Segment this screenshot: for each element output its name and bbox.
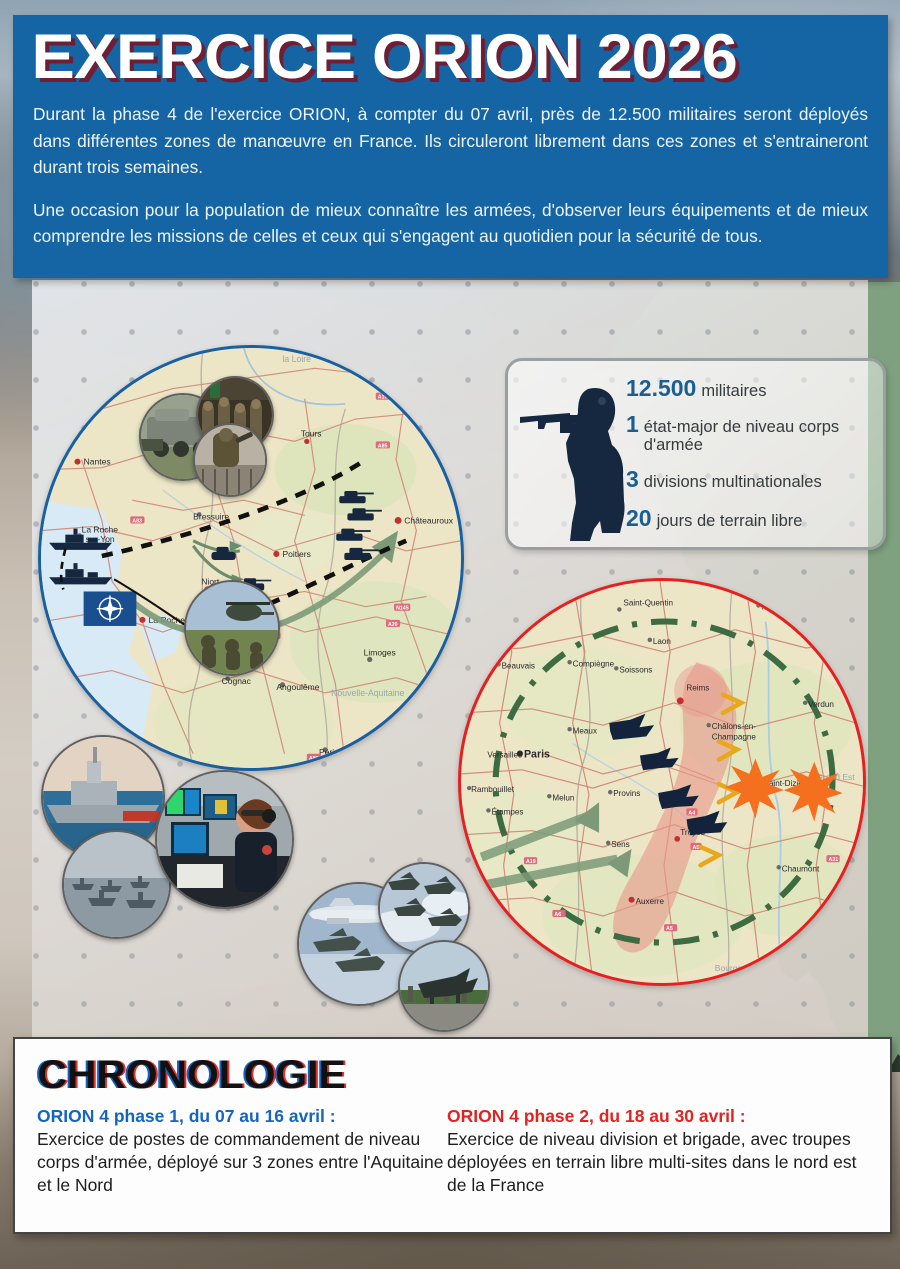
svg-text:N145: N145 [396, 606, 409, 612]
svg-text:Soissons: Soissons [619, 665, 652, 674]
phase1-heading: ORION 4 phase 1, du 07 au 16 avril : [37, 1106, 447, 1127]
stat-item: 12.500 militaires [626, 375, 876, 402]
stat-item: 3 divisions multinationales [626, 466, 876, 493]
svg-text:A20: A20 [388, 622, 398, 628]
phase2-body: Exercice de niveau division et brigade, … [447, 1128, 857, 1197]
stat-label: état-major de niveau corps d'armée [644, 418, 876, 455]
svg-text:Châlons-en-: Châlons-en- [712, 722, 756, 731]
svg-text:Nouvelle-Aquitaine: Nouvelle-Aquitaine [331, 688, 404, 698]
svg-text:A85: A85 [378, 443, 388, 449]
svg-text:Reims: Reims [686, 684, 709, 693]
chronology-column-phase1: ORION 4 phase 1, du 07 au 16 avril : Exe… [37, 1106, 447, 1197]
svg-text:Sens: Sens [611, 840, 629, 849]
map-circle-west[interactable]: Nantes Angers Tours Poitiers Niort La Ro… [38, 345, 464, 771]
nato-flag-icon [84, 591, 137, 625]
stat-label: militaires [701, 382, 766, 400]
rafale-takeoff-photo[interactable] [398, 940, 490, 1032]
svg-text:Limoges: Limoges [364, 647, 396, 657]
svg-text:A5: A5 [692, 845, 699, 851]
svg-text:A89: A89 [309, 756, 319, 762]
map-east-graphic: Saint-Quentin Mézières Laon Compiègne So… [461, 581, 863, 983]
stat-number: 1 [626, 411, 639, 438]
svg-text:A6: A6 [554, 912, 561, 918]
svg-text:la Loire: la Loire [282, 354, 311, 364]
svg-text:Étampes: Étampes [491, 807, 523, 816]
svg-text:Tours: Tours [301, 428, 322, 438]
phase2-heading: ORION 4 phase 2, du 18 au 30 avril : [447, 1106, 857, 1127]
phase1-body: Exercice de postes de commandement de ni… [37, 1128, 447, 1197]
chronology-column-phase2: ORION 4 phase 2, du 18 au 30 avril : Exe… [447, 1106, 857, 1197]
intro-paragraph-2: Une occasion pour la population de mieux… [13, 180, 888, 250]
svg-text:Paris: Paris [524, 749, 550, 761]
page-title: EXERCICE ORION 2026 [13, 15, 900, 89]
svg-text:A10: A10 [378, 395, 388, 401]
svg-text:Auxerre: Auxerre [636, 897, 665, 906]
svg-text:A31: A31 [828, 857, 838, 863]
svg-text:Rambouillet: Rambouillet [471, 785, 515, 794]
svg-text:Chaumont: Chaumont [782, 864, 820, 873]
svg-text:Mézières: Mézières [761, 602, 794, 611]
svg-text:Bressuire: Bressuire [193, 511, 229, 521]
svg-text:A19: A19 [526, 859, 536, 865]
svg-text:A4: A4 [688, 810, 695, 816]
svg-text:Meaux: Meaux [573, 726, 597, 735]
svg-text:Angoulême: Angoulême [276, 682, 319, 692]
svg-text:Compiègne: Compiègne [573, 659, 615, 668]
map-circle-east[interactable]: Saint-Quentin Mézières Laon Compiègne So… [458, 578, 866, 986]
stat-number: 20 [626, 505, 652, 532]
key-figures-panel: 12.500 militaires 1 état-major de niveau… [505, 358, 886, 550]
svg-text:Franche-Comté: Franche-Comté [719, 972, 778, 982]
svg-text:Beauvais: Beauvais [502, 661, 535, 670]
svg-text:Melun: Melun [552, 793, 574, 802]
helicopter-troops-photo[interactable] [184, 580, 280, 676]
svg-text:A5: A5 [666, 926, 673, 932]
svg-text:Châteauroux: Châteauroux [404, 516, 454, 526]
chronology-title: CHRONOLOGIE [15, 1039, 900, 1098]
stat-label: divisions multinationales [644, 473, 822, 491]
svg-text:Provins: Provins [613, 789, 640, 798]
svg-text:Verdun: Verdun [808, 700, 834, 709]
svg-text:Nantes: Nantes [84, 457, 111, 467]
operations-room-photo[interactable] [155, 770, 294, 909]
svg-text:Poitiers: Poitiers [282, 549, 310, 559]
stat-number: 12.500 [626, 375, 696, 402]
stat-item: 20 jours de terrain libre [626, 505, 876, 532]
svg-text:Versailles: Versailles [487, 751, 522, 760]
stat-label: jours de terrain libre [657, 512, 803, 530]
svg-text:Cognac: Cognac [222, 676, 252, 686]
header-banner: EXERCICE ORION 2026 Durant la phase 4 de… [13, 15, 888, 278]
stat-item: 1 état-major de niveau corps d'armée [626, 411, 876, 455]
chronology-panel: CHRONOLOGIE ORION 4 phase 1, du 07 au 16… [13, 1037, 892, 1234]
poster-root: EXERCICE ORION 2026 Durant la phase 4 de… [0, 0, 900, 1269]
soldier-rappel-photo[interactable] [193, 423, 267, 497]
chronology-columns: ORION 4 phase 1, du 07 au 16 avril : Exe… [15, 1098, 890, 1197]
svg-text:Saint-Quentin: Saint-Quentin [623, 598, 673, 607]
key-figures-list: 12.500 militaires 1 état-major de niveau… [626, 373, 876, 534]
intro-paragraph-1: Durant la phase 4 de l'exercice ORION, à… [13, 89, 888, 180]
rafale-formation-photo[interactable] [378, 862, 470, 954]
svg-text:A83: A83 [132, 518, 142, 524]
svg-text:Périgueux: Périgueux [319, 747, 358, 757]
svg-text:Laon: Laon [653, 637, 671, 646]
stat-number: 3 [626, 466, 639, 493]
